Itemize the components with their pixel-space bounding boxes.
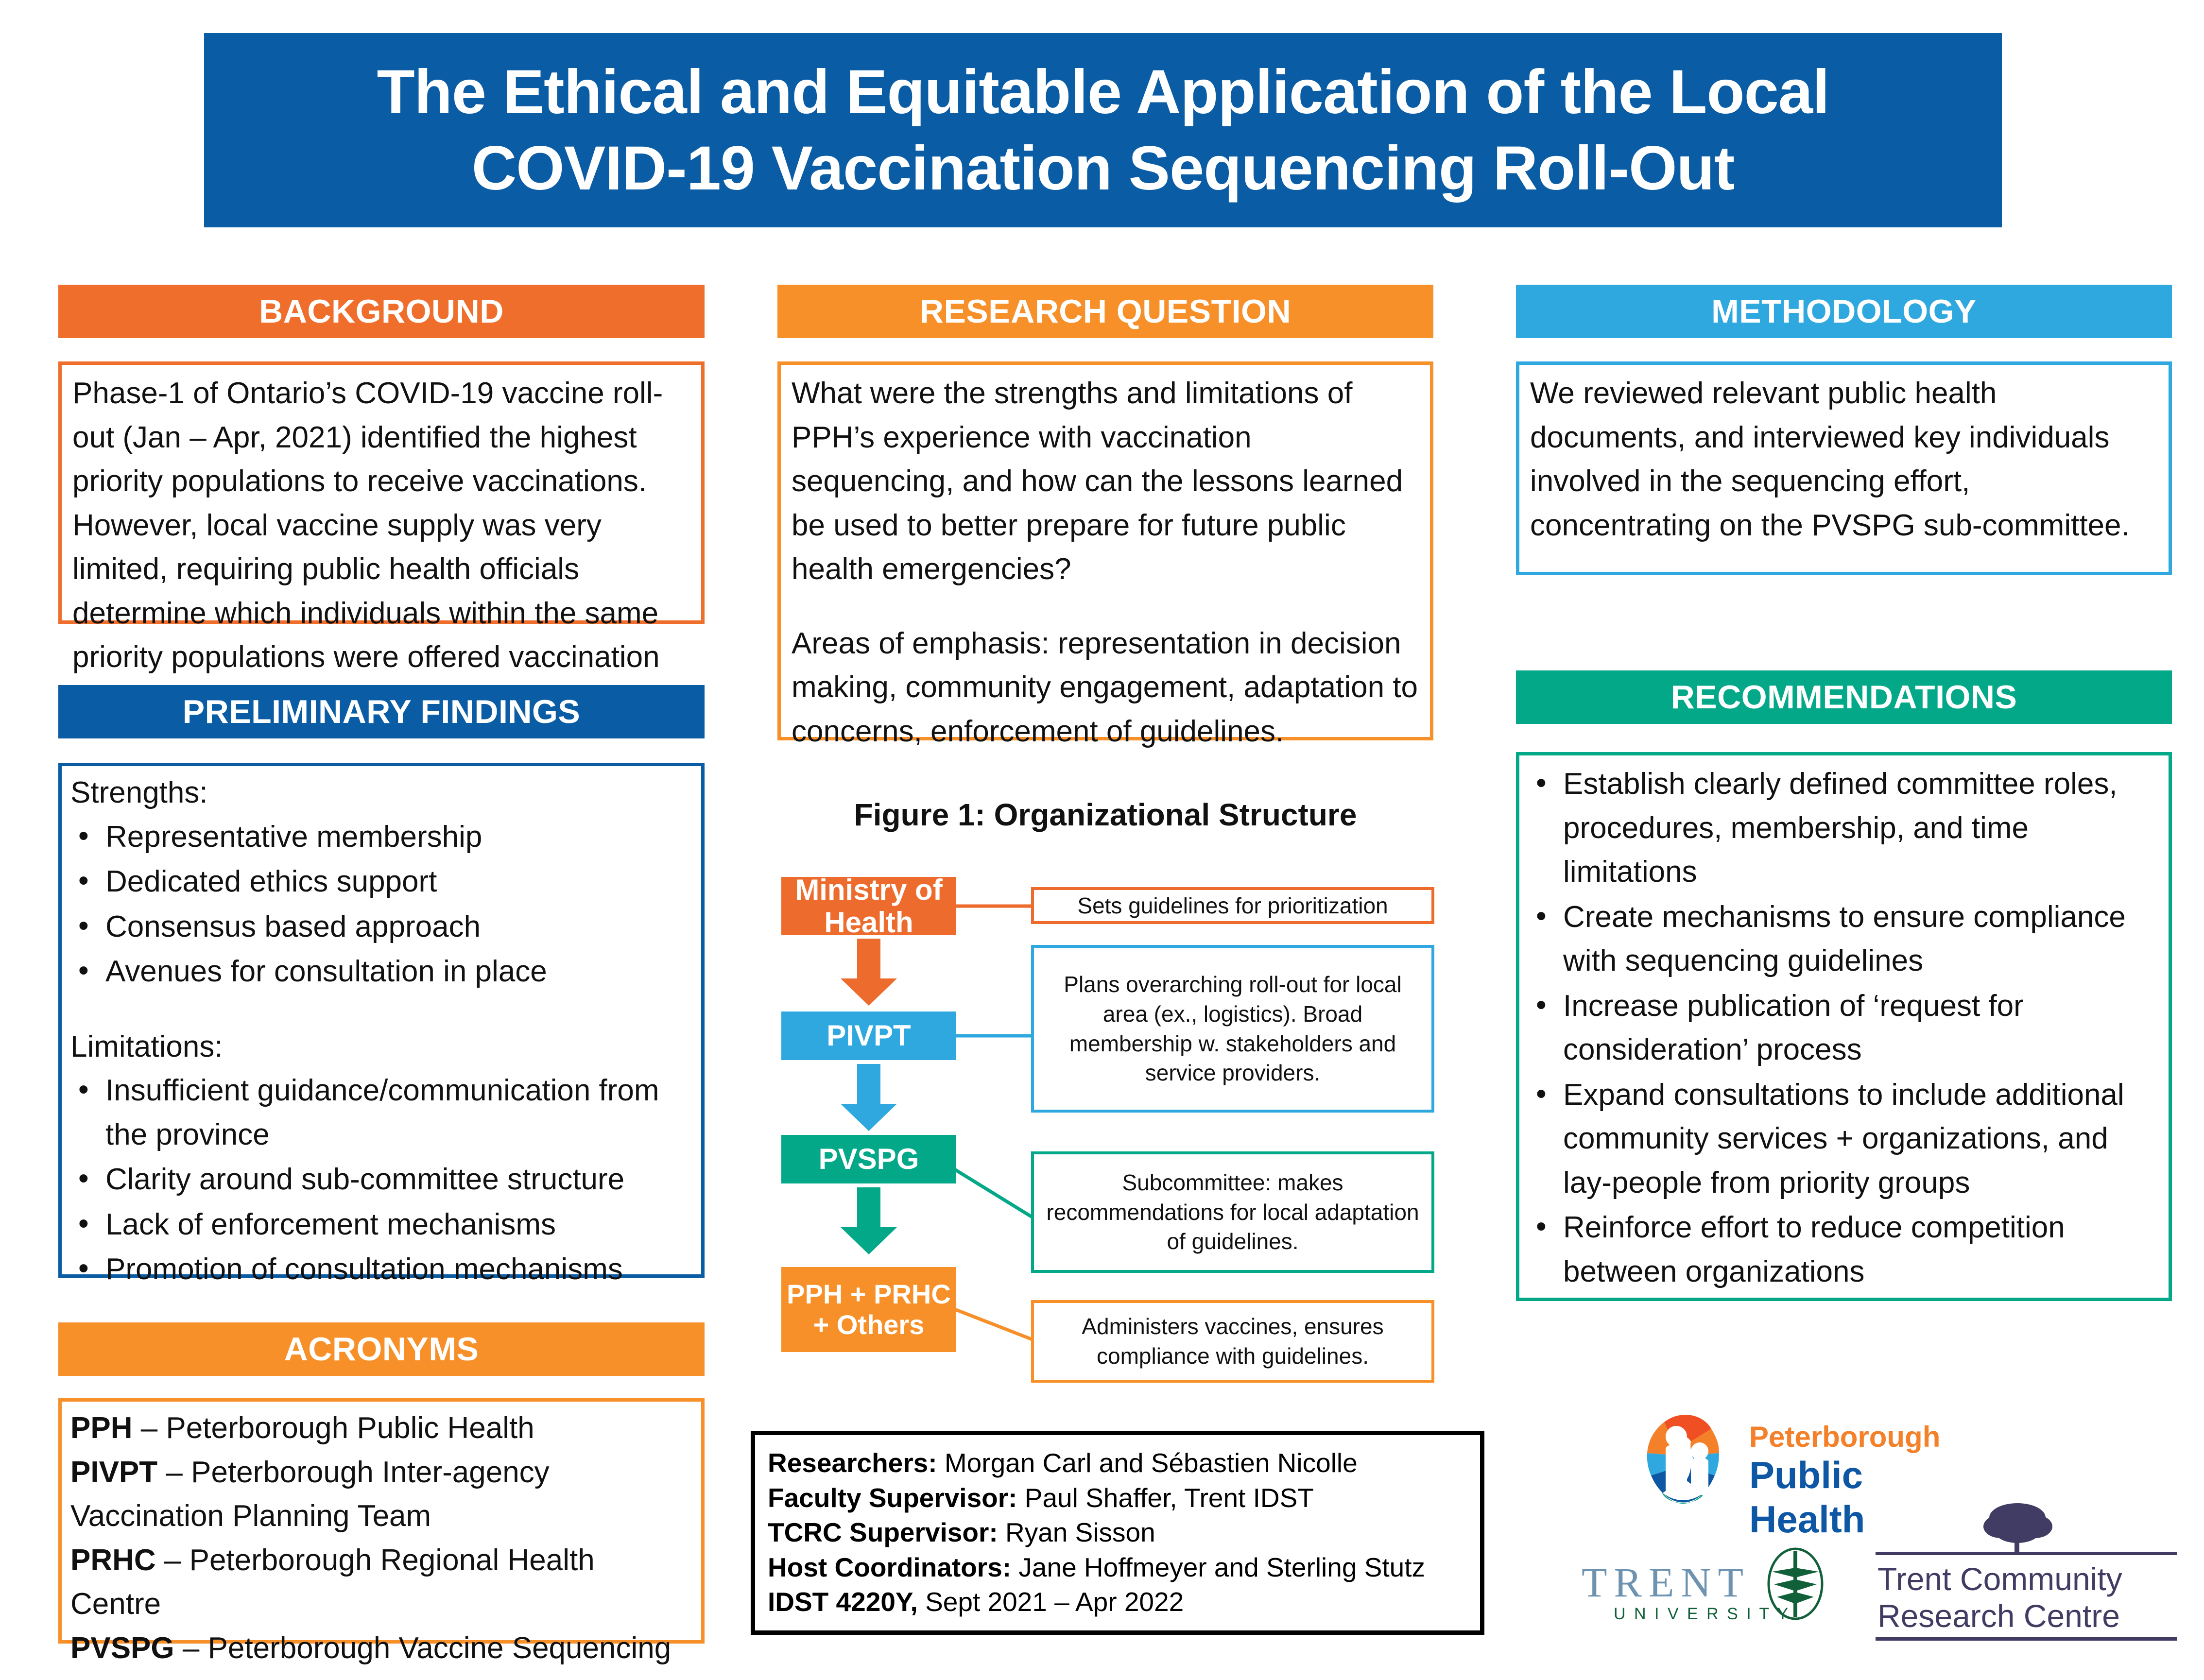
poster-title-bar: The Ethical and Equitable Application of… [204,33,2002,227]
acronym-abbr: PVSPG [70,1631,174,1665]
list-item: Representative membership [70,815,692,859]
credits-line: Faculty Supervisor: Paul Shaffer, Trent … [768,1481,1467,1516]
poster-title-line-2: COVID-19 Vaccination Sequencing Roll-Out [472,132,1735,205]
figure-callout-ministry: Sets guidelines for prioritization [1031,887,1434,924]
acronym-expansion: – Peterborough Public Health [132,1411,534,1445]
callout-text: Subcommittee: makes recommendations for … [1041,1168,1425,1256]
poster-root: The Ethical and Equitable Application of… [0,0,2204,1680]
acronym-entry: PVSPG – Peterborough Vaccine Sequencing … [70,1627,692,1680]
credits-value: Jane Hoffmeyer and Sterling Stutz [1011,1552,1425,1582]
acronym-abbr: PIVPT [70,1456,157,1489]
list-item: Increase publication of ‘request for con… [1528,984,2160,1072]
acronym-abbr: PPH [70,1411,132,1445]
research-question-spacer [792,592,1419,622]
acronym-abbr: PRHC [70,1543,156,1577]
poster-title-line-1: The Ethical and Equitable Application of… [377,55,1829,129]
credits-label: IDST 4220Y, [768,1587,918,1617]
list-item: Lack of enforcement mechanisms [70,1203,692,1247]
credits-label: Faculty Supervisor: [768,1483,1017,1513]
credits-value: Paul Shaffer, Trent IDST [1017,1483,1313,1513]
trent-leaf-icon [1761,1547,1829,1620]
trent-logo-wordmark: TRENT [1582,1558,1750,1607]
acronym-entry: PPH – Peterborough Public Health [70,1406,692,1451]
list-item: Insufficient guidance/communication from… [70,1069,692,1157]
figure-node-pph-prhc-others: PPH + PRHC + Others [781,1267,956,1352]
figure-node-pvspg: PVSPG [781,1135,956,1183]
recommendations-list: Establish clearly defined committee role… [1528,762,2160,1294]
recommendations-header-label: RECOMMENDATIONS [1671,678,2017,716]
credits-value: Sept 2021 – Apr 2022 [918,1587,1184,1617]
list-item: Consensus based approach [70,905,692,949]
figure-connector-ministry [956,899,1034,913]
strengths-list: Representative membership Dedicated ethi… [70,815,692,994]
tcrc-rule-bottom [1876,1637,2177,1641]
section-header-background: BACKGROUND [58,285,705,338]
figure-arrow-down-orange [840,939,898,1007]
research-question-header-label: RESEARCH QUESTION [920,292,1291,330]
credits-label: Researchers: [768,1448,937,1478]
node-label-line-1: Ministry of [795,874,942,906]
logo-trent-university: TRENT U N I V E R S I T Y [1582,1528,1834,1640]
figure-connector-pivpt [956,1029,1034,1043]
research-question-paragraph-2: Areas of emphasis: representation in dec… [792,622,1419,754]
limitations-list: Insufficient guidance/communication from… [70,1069,692,1292]
section-box-methodology: We reviewed relevant public health docum… [1516,361,2172,575]
credits-box: Researchers: Morgan Carl and Sébastien N… [751,1431,1484,1635]
limitations-label: Limitations: [70,1025,692,1069]
list-item: Create mechanisms to ensure compliance w… [1528,895,2160,983]
credits-line: IDST 4220Y, Sept 2021 – Apr 2022 [768,1585,1467,1620]
strengths-label: Strengths: [70,771,692,815]
section-box-background: Phase-1 of Ontario’s COVID-19 vaccine ro… [58,361,705,624]
section-box-acronyms: PPH – Peterborough Public Health PIVPT –… [58,1398,705,1644]
list-item: Promotion of consultation mechanisms [70,1248,692,1292]
list-item: Establish clearly defined committee role… [1528,762,2160,894]
credits-line: TCRC Supervisor: Ryan Sisson [768,1515,1467,1550]
figure-connector-pvspg [952,1166,1037,1222]
methodology-body-text: We reviewed relevant public health docum… [1530,372,2158,548]
list-item: Clarity around sub-committee structure [70,1158,692,1202]
figure-arrow-down-blue [840,1064,898,1132]
tcrc-logo-text-line-1: Trent Community [1877,1560,2175,1598]
list-item: Reinforce effort to reduce competition b… [1528,1206,2160,1294]
acronym-entry: PRHC – Peterborough Regional Health Cent… [70,1539,692,1627]
background-header-label: BACKGROUND [259,292,504,330]
section-header-preliminary-findings: PRELIMINARY FINDINGS [58,685,705,738]
methodology-header-label: METHODOLOGY [1711,292,1977,330]
list-item: Dedicated ethics support [70,860,692,904]
figure-arrow-down-green [840,1187,898,1255]
node-label-line-1: PPH + PRHC [787,1279,951,1310]
callout-text: Plans overarching roll-out for local are… [1041,970,1425,1088]
callout-text: Administers vaccines, ensures compliance… [1041,1312,1425,1371]
section-box-research-question: What were the strengths and limitations … [777,361,1433,740]
node-label-line-2: Health [824,906,913,939]
section-header-methodology: METHODOLOGY [1516,285,2172,338]
figure-title: Figure 1: Organizational Structure [777,797,1433,833]
node-label-line-2: + Others [813,1310,925,1340]
figure-callout-pivpt: Plans overarching roll-out for local are… [1031,945,1434,1113]
acronym-entry: PIVPT – Peterborough Inter-agency Vaccin… [70,1451,692,1539]
acronyms-header-label: ACRONYMS [284,1330,479,1368]
credits-label: TCRC Supervisor: [768,1517,998,1547]
node-label-line-1: PIVPT [826,1019,911,1052]
pph-logo-text-line-1: Peterborough [1749,1420,1940,1454]
section-header-acronyms: ACRONYMS [58,1322,705,1376]
figure-callout-pvspg: Subcommittee: makes recommendations for … [1031,1151,1434,1273]
section-header-recommendations: RECOMMENDATIONS [1516,670,2172,724]
logo-trent-community-research-centre: Trent Community Research Centre [1876,1501,2177,1647]
section-box-recommendations: Establish clearly defined committee role… [1516,752,2172,1301]
credits-line: Host Coordinators: Jane Hoffmeyer and St… [768,1550,1467,1585]
credits-value: Morgan Carl and Sébastien Nicolle [937,1448,1358,1478]
tcrc-rule-top [1876,1552,2177,1555]
figure-node-ministry-of-health: Ministry of Health [781,877,956,935]
tcrc-tree-icon [1963,1501,2075,1556]
callout-text: Sets guidelines for prioritization [1077,891,1388,921]
figure-node-pivpt: PIVPT [781,1011,956,1060]
logo-peterborough-public-health: Peterborough Public Health [1618,1411,1987,1516]
section-box-preliminary-findings: Strengths: Representative membership Ded… [58,763,705,1278]
figure-callout-pph: Administers vaccines, ensures compliance… [1031,1300,1434,1383]
credits-line: Researchers: Morgan Carl and Sébastien N… [768,1446,1467,1481]
preliminary-findings-header-label: PRELIMINARY FINDINGS [183,693,581,731]
findings-spacer [70,995,692,1025]
background-body-text: Phase-1 of Ontario’s COVID-19 vaccine ro… [72,372,690,723]
credits-value: Ryan Sisson [998,1517,1155,1547]
section-header-research-question: RESEARCH QUESTION [777,285,1433,338]
list-item: Expand consultations to include addition… [1528,1073,2160,1205]
figure-connector-pph [952,1307,1037,1343]
research-question-paragraph-1: What were the strengths and limitations … [792,372,1419,592]
node-label-line-1: PVSPG [819,1143,919,1175]
list-item: Avenues for consultation in place [70,950,692,994]
credits-label: Host Coordinators: [768,1552,1011,1582]
tcrc-logo-text-line-2: Research Centre [1877,1597,2175,1635]
